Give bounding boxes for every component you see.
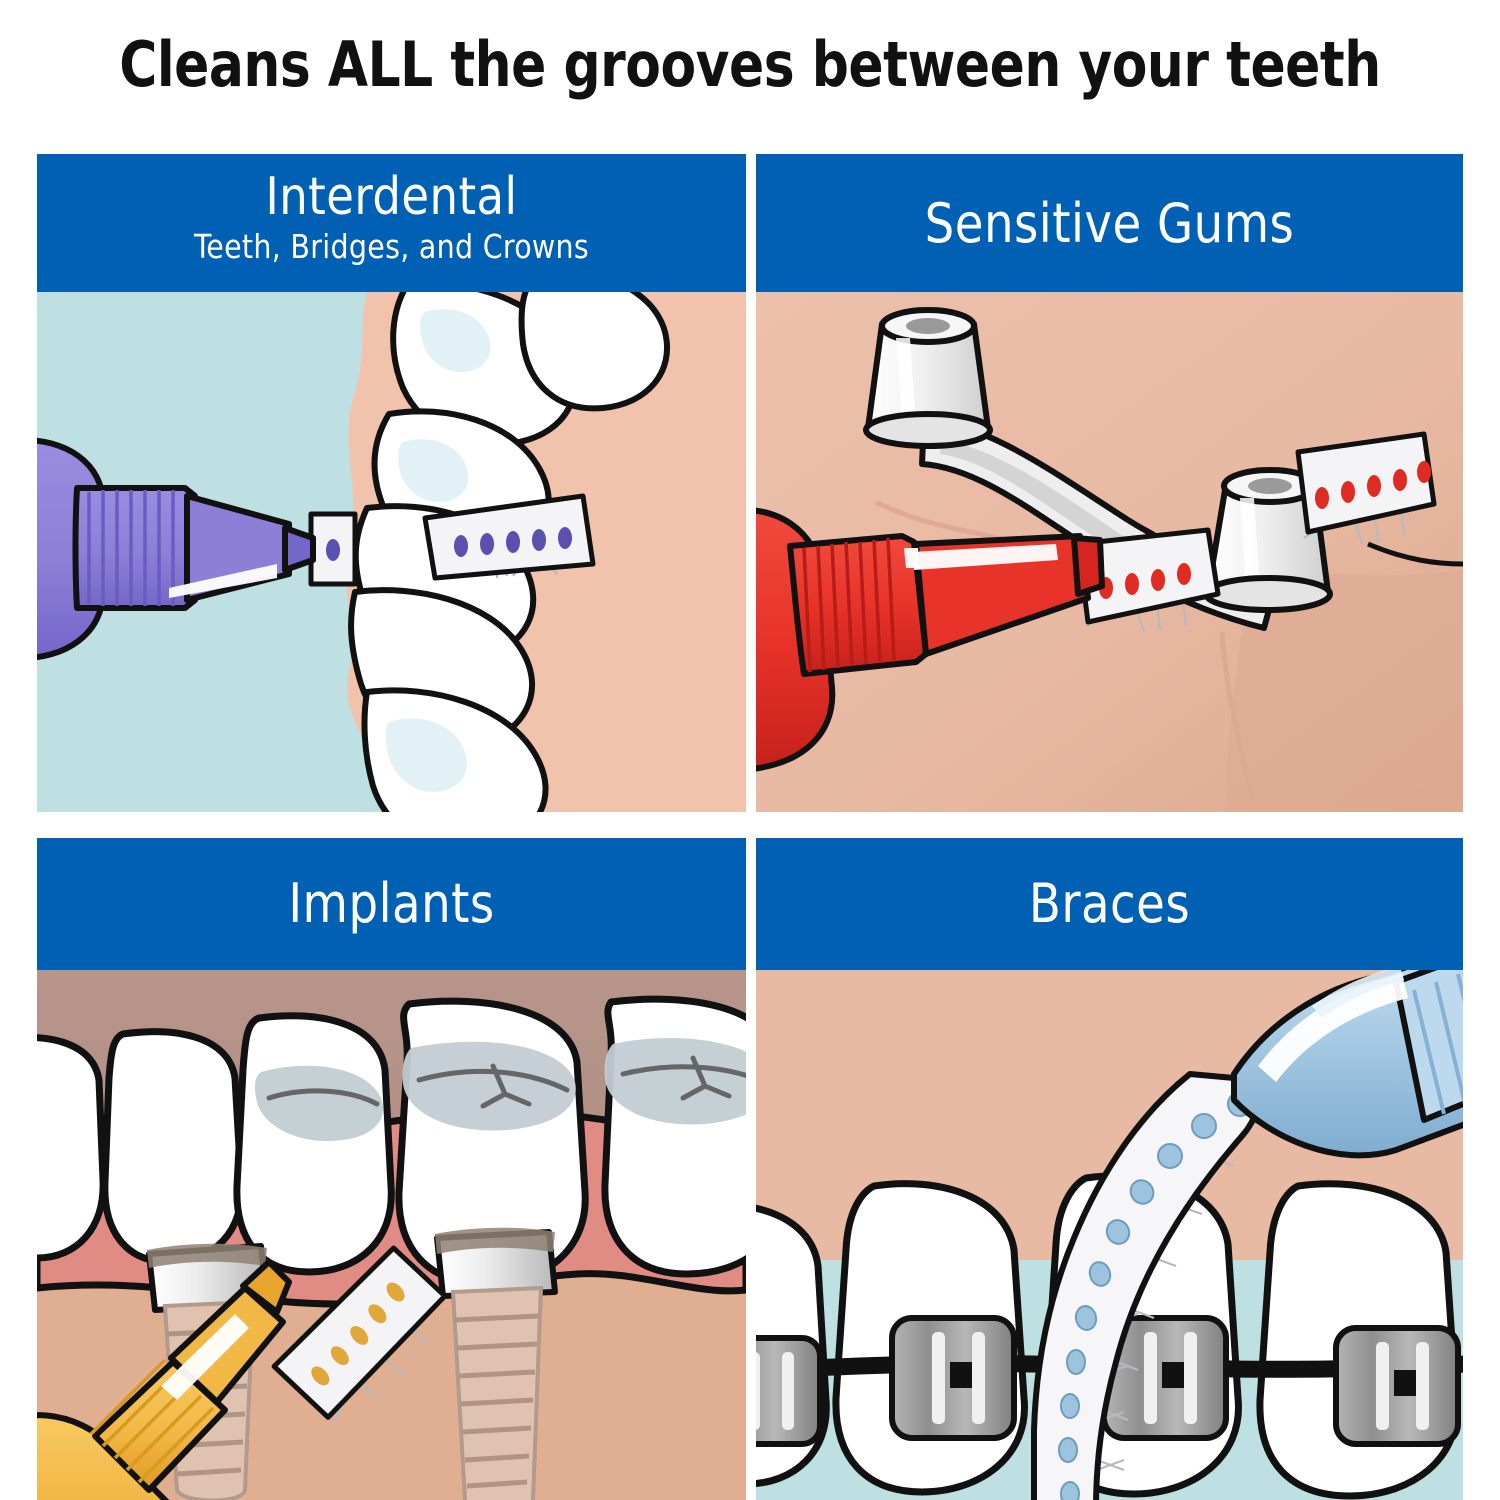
panel-implants-illustration (37, 970, 746, 1500)
panel-sensitive-gums-banner: Sensitive Gums (756, 154, 1463, 292)
bracket-center (950, 1362, 972, 1388)
panel-braces: Braces (756, 838, 1463, 1500)
panel-interdental-title: Interdental (51, 154, 732, 225)
handle-ridges (89, 490, 173, 606)
bracket (1336, 1328, 1458, 1444)
bracket-center (1394, 1370, 1416, 1396)
bracket-slot-highlight (972, 1332, 985, 1424)
panel-braces-illustration (756, 970, 1463, 1500)
tooth (522, 292, 667, 408)
bracket (892, 1318, 1014, 1438)
panel-interdental: Interdental Teeth, Bridges, and Crowns (37, 154, 746, 812)
braces-scene-svg (756, 970, 1463, 1500)
panel-braces-banner: Braces (756, 838, 1463, 970)
panel-sensitive-gums-illustration (756, 292, 1463, 812)
panel-implants: Implants (37, 838, 746, 1500)
panel-interdental-illustration (37, 292, 746, 812)
bracket-slot-highlight (756, 1352, 760, 1430)
bracket (756, 1338, 820, 1444)
abutment-left (866, 310, 990, 446)
page-title: Cleans ALL the grooves between your teet… (53, 28, 1448, 101)
tooth (237, 1016, 391, 1272)
handle-tip (285, 528, 313, 570)
bracket-slot-highlight (1416, 1342, 1429, 1430)
bracket-slot-highlight (1184, 1332, 1197, 1424)
bracket-slot-highlight (1376, 1342, 1389, 1430)
abutment-hole (906, 318, 950, 334)
panel-interdental-subtitle: Teeth, Bridges, and Crowns (51, 227, 732, 266)
panel-interdental-banner: Interdental Teeth, Bridges, and Crowns (37, 154, 746, 292)
implants-scene-svg (37, 970, 746, 1500)
sensitive-gums-scene-svg (756, 292, 1463, 812)
brush-head-proximal (311, 514, 355, 584)
tooth (37, 1037, 103, 1258)
abutment-base (1206, 578, 1330, 610)
tooth (105, 1032, 241, 1262)
poster-root: Cleans ALL the grooves between your teet… (0, 0, 1500, 1500)
handle-tip (1074, 538, 1102, 594)
panel-sensitive-gums: Sensitive Gums (756, 154, 1463, 812)
panel-implants-banner: Implants (37, 838, 746, 970)
interdental-scene-svg (37, 292, 746, 812)
panel-sensitive-gums-title: Sensitive Gums (770, 154, 1449, 253)
handle-highlight-spot (904, 548, 920, 568)
bracket-center (1162, 1362, 1184, 1388)
bracket-slot-highlight (932, 1332, 945, 1424)
bristle-ring (326, 539, 340, 561)
abutment-base (866, 414, 990, 446)
panel-implants-title: Implants (51, 838, 732, 933)
bracket-slot-highlight (1144, 1332, 1157, 1424)
bracket-slot-highlight (782, 1352, 794, 1430)
panel-braces-title: Braces (770, 838, 1449, 933)
abutment-hole (1248, 478, 1292, 494)
